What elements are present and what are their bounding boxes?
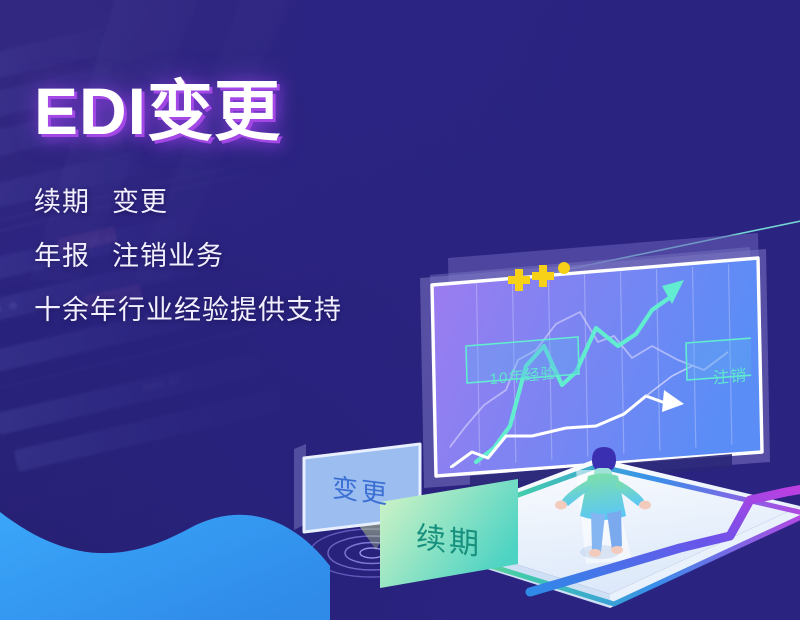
person-shoe-left [589,549,601,557]
person-hair [592,447,616,471]
wave-shape [0,512,330,620]
page-title: EDI变更 [34,78,504,145]
person-shoe-right [611,546,623,554]
edi-banner: NODE 04 NODE 06 NODE 02 EDI变更 续期变更 [0,0,800,620]
illustration-svg [280,200,800,620]
subtitle-2-part-b: 注销业务 [112,241,224,271]
bottom-wave [0,470,330,620]
subtitle-1-part-b: 变更 [112,187,168,217]
renew-card-label: 续期 [384,487,514,589]
subtitle-1-part-a: 续期 [34,187,90,217]
person-hand-left [555,501,567,510]
person-hand-right [639,501,651,510]
hero-illustration: 10年经验 注销 变更 续期 [280,200,800,620]
decor-dot-icon [558,262,570,274]
subtitle-2-part-a: 年报 [34,241,90,271]
